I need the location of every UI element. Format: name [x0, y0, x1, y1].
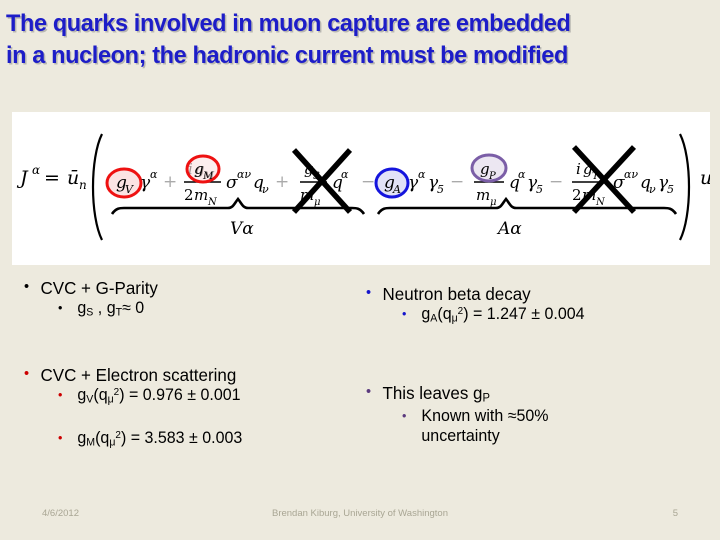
- svg-text:n: n: [79, 178, 87, 192]
- value: = 3.583 ± 0.003: [126, 429, 242, 447]
- svg-text:ū: ū: [67, 167, 79, 189]
- svg-text:−: −: [549, 172, 563, 192]
- separator: ,: [93, 299, 106, 317]
- bullet-label: Neutron beta decay: [382, 284, 697, 305]
- svg-text:M: M: [202, 171, 214, 182]
- svg-text:5: 5: [437, 183, 444, 196]
- bullet-marker: •: [24, 278, 40, 297]
- svg-text:N: N: [595, 197, 606, 208]
- subbullet-label: gV(qμ2) = 0.976 ± 0.001: [77, 386, 349, 406]
- vector-brace-label: Vα: [230, 219, 254, 239]
- bullet-marker: •: [24, 365, 40, 384]
- svg-text:μ: μ: [490, 197, 497, 208]
- svg-text:+: +: [275, 172, 289, 192]
- svg-text:5: 5: [536, 183, 543, 196]
- hadronic-current-equation: .mi{font-family:"DejaVu Serif",serif;fon…: [12, 112, 710, 265]
- svg-text:2: 2: [572, 186, 582, 204]
- subbullet-ga-value: • gA(qμ2) = 1.247 ± 0.004: [402, 305, 699, 325]
- subbullet-gp-uncertainty: • Known with ≈50% uncertainty: [402, 407, 699, 447]
- axial-brace-label: Aα: [496, 219, 522, 239]
- svg-text:−: −: [361, 172, 375, 192]
- uncertainty-line2: uncertainty: [421, 427, 698, 447]
- relation: ≈ 0: [122, 299, 144, 317]
- svg-text:−: −: [450, 172, 464, 192]
- bullet-neutron-beta-decay: • Neutron beta decay: [366, 284, 698, 305]
- svg-text:V: V: [125, 183, 134, 196]
- svg-text:5: 5: [667, 183, 674, 196]
- arg-open: (q: [437, 305, 451, 323]
- spacer: [358, 325, 708, 383]
- bullet-label: CVC + G-Parity: [40, 278, 347, 299]
- subbullet-label: gS , gT≈ 0: [77, 299, 349, 319]
- svg-text:P: P: [488, 171, 496, 182]
- bullet-marker: •: [58, 386, 77, 404]
- svg-text:αν: αν: [624, 168, 638, 181]
- slide-title: The quarks involved in muon capture are …: [6, 8, 686, 73]
- gv-symbol: g: [77, 386, 86, 404]
- bullet-label: CVC + Electron scattering: [40, 365, 347, 386]
- bullet-this-leaves-gp: • This leaves gP: [366, 383, 698, 406]
- bullet-marker: •: [58, 299, 77, 317]
- vector-underbrace: [112, 199, 364, 214]
- subbullet-gs-gt: • gS , gT≈ 0: [58, 299, 349, 319]
- svg-text:ν: ν: [649, 183, 656, 196]
- svg-text:μ: μ: [314, 197, 321, 208]
- slide-footer: 4/6/2012 Brendan Kiburg, University of W…: [0, 508, 720, 528]
- svg-text:α: α: [32, 163, 40, 177]
- svg-text:m: m: [194, 186, 208, 204]
- bullet-marker: •: [402, 407, 421, 425]
- bullet-marker: •: [366, 284, 382, 303]
- subbullet-label: gM(qμ2) = 3.583 ± 0.003: [77, 429, 349, 449]
- spacer: [18, 407, 358, 429]
- svg-text:ν: ν: [262, 183, 269, 196]
- bullet-cvc-gparity: • CVC + G-Parity: [24, 278, 348, 299]
- slide-title-line1: The quarks involved in muon capture are …: [6, 8, 686, 40]
- svg-text:α: α: [518, 168, 526, 181]
- svg-text:α: α: [418, 168, 426, 181]
- spacer: [18, 319, 358, 365]
- close-paren: [680, 134, 689, 240]
- svg-text:=: =: [44, 167, 60, 189]
- svg-text:+: +: [163, 172, 177, 192]
- slide-title-line2: in a nucleon; the hadronic current must …: [6, 40, 686, 72]
- value: = 1.247 ± 0.004: [469, 305, 585, 323]
- subbullet-label: gA(qμ2) = 1.247 ± 0.004: [421, 305, 698, 325]
- svg-text:m: m: [476, 186, 490, 204]
- gp-subscript: P: [483, 393, 490, 405]
- subbullet-gm-value: • gM(qμ2) = 3.583 ± 0.003: [58, 429, 349, 449]
- svg-text:A: A: [392, 183, 401, 196]
- uncertainty-line1: Known with ≈50%: [421, 407, 698, 427]
- open-paren: [93, 134, 102, 240]
- value: = 0.976 ± 0.001: [125, 386, 241, 404]
- bullet-label: This leaves gP: [382, 383, 697, 406]
- svg-text:N: N: [207, 197, 218, 208]
- svg-text:α: α: [150, 168, 158, 181]
- subbullet-label: Known with ≈50% uncertainty: [421, 407, 698, 447]
- gs-symbol: g: [77, 299, 86, 317]
- gm-symbol: g: [77, 429, 86, 447]
- footer-author: Brendan Kiburg, University of Washington: [0, 508, 720, 519]
- bullet-marker: •: [402, 305, 421, 323]
- heading-text: This leaves g: [382, 383, 482, 403]
- ga-symbol: g: [421, 305, 430, 323]
- arg-open: (q: [95, 429, 109, 447]
- bullet-marker: •: [366, 383, 382, 402]
- footer-page-number: 5: [673, 508, 678, 519]
- bullet-cvc-electron-scattering: • CVC + Electron scattering: [24, 365, 348, 386]
- svg-text:αν: αν: [237, 168, 251, 181]
- eq-up: u: [700, 167, 710, 189]
- bullet-marker: •: [58, 429, 77, 447]
- bullet-column-right: • Neutron beta decay • gA(qμ2) = 1.247 ±…: [358, 284, 708, 446]
- subbullet-gv-value: • gV(qμ2) = 0.976 ± 0.001: [58, 386, 349, 406]
- arg-open: (q: [93, 386, 107, 404]
- gm-subscript: M: [86, 436, 95, 448]
- bullet-column-left: • CVC + G-Parity • gS , gT≈ 0 • CVC + El…: [18, 278, 358, 449]
- svg-text:i: i: [576, 160, 581, 178]
- equation-panel: .mi{font-family:"DejaVu Serif",serif;fon…: [12, 112, 710, 265]
- eq-lhs: J: [16, 167, 29, 189]
- svg-text:α: α: [341, 168, 349, 181]
- svg-text:2: 2: [184, 186, 194, 204]
